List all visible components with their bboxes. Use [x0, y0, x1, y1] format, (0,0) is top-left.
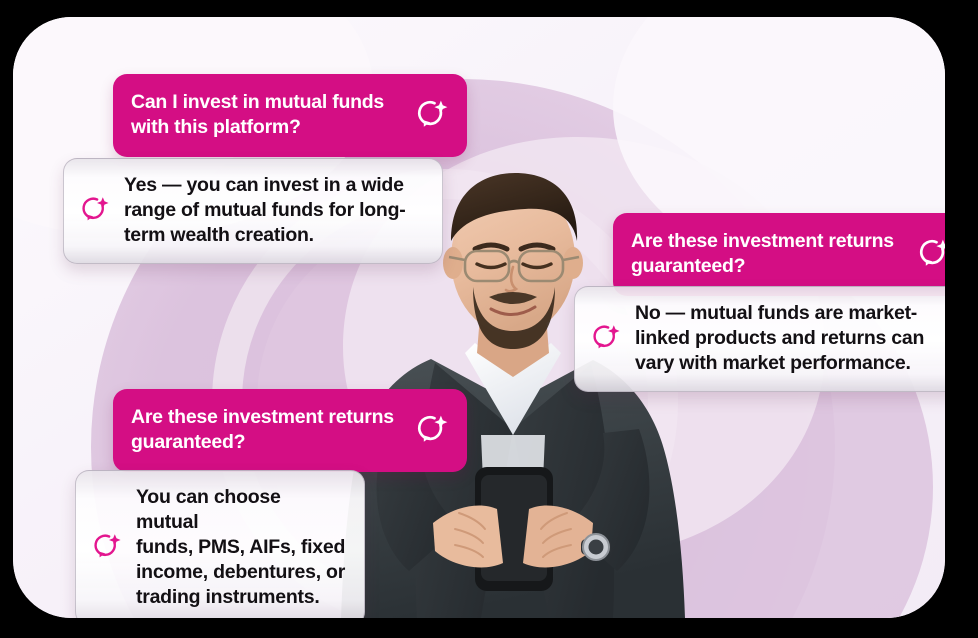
bubble-text: Can I invest in mutual funds with this p…	[131, 90, 399, 140]
chat-bubble-answer-3[interactable]: You can choose mutual funds, PMS, AIFs, …	[75, 470, 365, 618]
chat-sparkle-icon	[90, 531, 122, 563]
bubble-text: Yes — you can invest in a wide range of …	[124, 173, 405, 248]
chat-bubble-question-3[interactable]: Are these investment returns guaranteed?	[113, 389, 467, 472]
bubble-text: Are these investment returns guaranteed?	[131, 405, 399, 455]
chat-sparkle-icon	[78, 194, 110, 226]
screenshot-stage: Can I invest in mutual funds with this p…	[0, 0, 978, 638]
chat-bubble-answer-1[interactable]: Yes — you can invest in a wide range of …	[63, 158, 443, 264]
hero-card: Can I invest in mutual funds with this p…	[13, 17, 945, 618]
chat-sparkle-icon	[915, 236, 945, 272]
bubble-text: Are these investment returns guaranteed?	[631, 229, 901, 279]
bubble-text: You can choose mutual funds, PMS, AIFs, …	[136, 485, 346, 610]
chat-bubble-question-2[interactable]: Are these investment returns guaranteed?	[613, 213, 945, 296]
chat-sparkle-icon	[413, 412, 449, 448]
chat-bubble-answer-2[interactable]: No — mutual funds are market- linked pro…	[574, 286, 945, 392]
chat-sparkle-icon	[413, 97, 449, 133]
chat-bubble-question-1[interactable]: Can I invest in mutual funds with this p…	[113, 74, 467, 157]
chat-sparkle-icon	[589, 322, 621, 354]
wristwatch	[581, 534, 611, 560]
bubble-text: No — mutual funds are market- linked pro…	[635, 301, 924, 376]
